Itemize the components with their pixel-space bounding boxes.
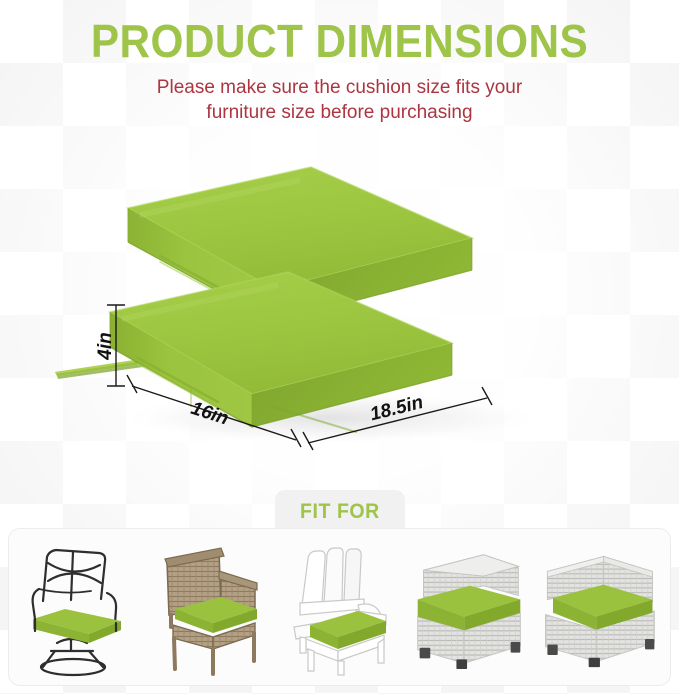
fit-item-white-adirondack-chair (278, 537, 400, 679)
product-illustration: 4in 16in 18.5in (0, 150, 679, 480)
fit-item-brown-wicker-dining-chair (149, 537, 271, 679)
page-title: PRODUCT DIMENSIONS (27, 0, 652, 65)
page-subtitle: Please make sure the cushion size fits y… (105, 75, 575, 125)
fit-item-black-metal-swivel-chair (19, 537, 141, 679)
fit-item-gray-wicker-corner-sectional (538, 537, 660, 679)
fit-for-label: FIT FOR (300, 500, 380, 524)
fit-item-gray-wicker-armless-sectional (408, 537, 530, 679)
fit-for-section: FIT FOR (0, 490, 679, 694)
subtitle-line-1: Please make sure the cushion size fits y… (105, 75, 575, 100)
fit-for-panel (8, 528, 671, 686)
subtitle-line-2: furniture size before purchasing (105, 100, 575, 125)
header: PRODUCT DIMENSIONS Please make sure the … (0, 0, 679, 125)
dimension-height-label: 4in (95, 332, 116, 360)
chair-cushion (33, 609, 121, 643)
